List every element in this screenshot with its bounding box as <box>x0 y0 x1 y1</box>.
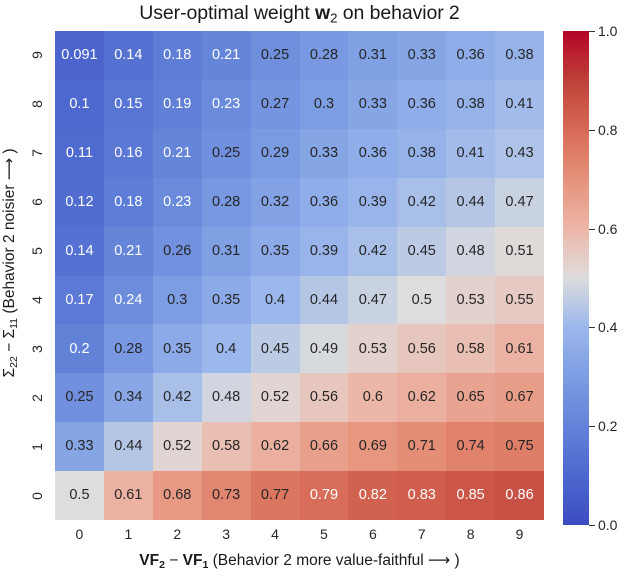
y-tick-label: 9 <box>26 31 48 80</box>
y-tick-text: 1 <box>29 443 45 451</box>
heatmap-cell: 0.31 <box>202 227 251 276</box>
heatmap-cell: 0.1 <box>55 80 104 129</box>
x-tick-label: 7 <box>397 524 446 544</box>
heatmap-cell: 0.61 <box>495 324 544 373</box>
x-tick-label: 6 <box>348 524 397 544</box>
heatmap-cell-value: 0.36 <box>408 97 436 112</box>
heatmap-cell-value: 0.36 <box>310 195 338 210</box>
y-tick-label: 5 <box>26 227 48 276</box>
x-axis-label: VF2 − VF1 (Behavior 2 more value-faithfu… <box>55 551 544 571</box>
heatmap-cell: 0.11 <box>55 129 104 178</box>
heatmap-cell: 0.4 <box>251 276 300 325</box>
x-tick-label: 4 <box>251 524 300 544</box>
heatmap-cell: 0.53 <box>446 276 495 325</box>
heatmap-cell: 0.18 <box>104 178 153 227</box>
heatmap-cell: 0.48 <box>202 373 251 422</box>
heatmap-cell-value: 0.28 <box>212 195 240 210</box>
heatmap-cell: 0.33 <box>55 422 104 471</box>
heatmap-cell-value: 0.21 <box>114 244 142 259</box>
heatmap-cell: 0.49 <box>300 324 349 373</box>
heatmap-cell-value: 0.14 <box>114 48 142 63</box>
heatmap-cell-value: 0.58 <box>212 439 240 454</box>
colorbar-tick-label: 1.0 <box>598 23 617 39</box>
heatmap-cell-value: 0.5 <box>412 293 432 308</box>
heatmap-cell: 0.58 <box>202 422 251 471</box>
heatmap-cell-value: 0.25 <box>65 390 93 405</box>
heatmap-cell-value: 0.19 <box>163 97 191 112</box>
heatmap-cell-value: 0.18 <box>163 48 191 63</box>
heatmap-cell-value: 0.36 <box>457 48 485 63</box>
heatmap-cell: 0.28 <box>202 178 251 227</box>
title-lead: User-optimal weight <box>139 2 315 24</box>
heatmap-cell: 0.45 <box>397 227 446 276</box>
colorbar-tick-mark <box>589 525 595 526</box>
heatmap-cell-value: 0.3 <box>314 97 334 112</box>
heatmap-cell: 0.58 <box>446 324 495 373</box>
heatmap-cell-value: 0.38 <box>505 48 533 63</box>
heatmap-cell: 0.52 <box>153 422 202 471</box>
heatmap-cell-value: 0.86 <box>505 488 533 503</box>
heatmap-cell: 0.75 <box>495 422 544 471</box>
heatmap-cell-value: 0.66 <box>310 439 338 454</box>
heatmap-cell-value: 0.85 <box>457 488 485 503</box>
heatmap-cell-value: 0.18 <box>114 195 142 210</box>
heatmap-cell-value: 0.27 <box>261 97 289 112</box>
heatmap-cell-value: 0.35 <box>163 342 191 357</box>
colorbar-tick-label: 0.6 <box>598 221 617 237</box>
y-tick-label: 3 <box>26 324 48 373</box>
heatmap-cell: 0.3 <box>153 276 202 325</box>
heatmap-cell: 0.18 <box>153 31 202 80</box>
heatmap-cell: 0.5 <box>397 276 446 325</box>
heatmap-cell: 0.4 <box>202 324 251 373</box>
colorbar-tick-label: 0.2 <box>598 418 617 434</box>
xlabel-sym2: VF <box>183 552 203 569</box>
x-tick-label: 8 <box>446 524 495 544</box>
heatmap-cell: 0.27 <box>251 80 300 129</box>
heatmap-cell: 0.19 <box>153 80 202 129</box>
heatmap-cell: 0.091 <box>55 31 104 80</box>
heatmap-cell-value: 0.33 <box>408 48 436 63</box>
y-tick-label: 6 <box>26 178 48 227</box>
heatmap-cell-value: 0.73 <box>212 488 240 503</box>
heatmap-cell: 0.23 <box>202 80 251 129</box>
heatmap-cell: 0.32 <box>251 178 300 227</box>
y-tick-text: 8 <box>29 100 45 108</box>
heatmap-cell-value: 0.41 <box>505 97 533 112</box>
y-tick-label: 8 <box>26 80 48 129</box>
heatmap-cell-value: 0.38 <box>408 146 436 161</box>
heatmap-cell: 0.38 <box>397 129 446 178</box>
x-tick-label: 1 <box>104 524 153 544</box>
heatmap-cell: 0.83 <box>397 471 446 520</box>
heatmap-cell: 0.33 <box>300 129 349 178</box>
y-tick-text: 6 <box>29 198 45 206</box>
heatmap-cell: 0.25 <box>202 129 251 178</box>
heatmap-cell: 0.33 <box>348 80 397 129</box>
heatmap-cell-value: 0.53 <box>359 342 387 357</box>
colorbar-tick-mark <box>589 229 595 230</box>
heatmap-cell: 0.38 <box>446 80 495 129</box>
heatmap-cell: 0.25 <box>55 373 104 422</box>
heatmap-cell-value: 0.62 <box>408 390 436 405</box>
heatmap-cell: 0.61 <box>104 471 153 520</box>
x-tick-label: 3 <box>202 524 251 544</box>
heatmap-cell: 0.62 <box>251 422 300 471</box>
heatmap-cell: 0.55 <box>495 276 544 325</box>
heatmap-cell-value: 0.33 <box>65 439 93 454</box>
heatmap-cell: 0.48 <box>446 227 495 276</box>
heatmap-cell-value: 0.34 <box>114 390 142 405</box>
heatmap-cell: 0.47 <box>348 276 397 325</box>
heatmap-cell: 0.36 <box>348 129 397 178</box>
heatmap-cell: 0.69 <box>348 422 397 471</box>
colorbar-tick-label: 0.8 <box>598 122 617 138</box>
heatmap-cell: 0.44 <box>104 422 153 471</box>
heatmap-cell: 0.41 <box>495 80 544 129</box>
heatmap-cell-value: 0.39 <box>310 244 338 259</box>
heatmap-cell-value: 0.3 <box>167 293 187 308</box>
heatmap-cell: 0.14 <box>55 227 104 276</box>
colorbar-tick-label: 0.0 <box>598 517 617 533</box>
heatmap-cell: 0.31 <box>348 31 397 80</box>
heatmap-cell-value: 0.32 <box>261 195 289 210</box>
heatmap-cell-value: 0.31 <box>212 244 240 259</box>
heatmap-cell: 0.68 <box>153 471 202 520</box>
colorbar-tick-mark <box>589 327 595 328</box>
y-tick-label: 0 <box>26 471 48 520</box>
heatmap-cell: 0.33 <box>397 31 446 80</box>
x-tick-label: 0 <box>55 524 104 544</box>
heatmap-cell-value: 0.23 <box>212 97 240 112</box>
heatmap-cell-value: 0.38 <box>457 97 485 112</box>
y-tick-text: 9 <box>29 52 45 60</box>
heatmap-cell: 0.28 <box>300 31 349 80</box>
heatmap-cell-value: 0.28 <box>114 342 142 357</box>
heatmap-figure: User-optimal weight w2 on behavior 2 0.0… <box>0 0 626 582</box>
heatmap-cell-value: 0.23 <box>163 195 191 210</box>
y-tick-text: 3 <box>29 345 45 353</box>
heatmap-cell-value: 0.14 <box>65 244 93 259</box>
heatmap-cell: 0.47 <box>495 178 544 227</box>
y-tick-text: 0 <box>29 492 45 500</box>
heatmap-cell: 0.41 <box>446 129 495 178</box>
heatmap-cell-value: 0.82 <box>359 488 387 503</box>
y-axis-label: Σ22 − Σ11 (Behavior 2 noisier ⟶ ) <box>0 18 20 508</box>
x-tick-label: 5 <box>300 524 349 544</box>
y-tick-label: 4 <box>26 276 48 325</box>
heatmap-cell: 0.28 <box>104 324 153 373</box>
y-tick-label: 7 <box>26 129 48 178</box>
colorbar-tick-label: 0.4 <box>598 319 617 335</box>
heatmap-cell-value: 0.44 <box>114 439 142 454</box>
heatmap-cell: 0.82 <box>348 471 397 520</box>
heatmap-cell: 0.62 <box>397 373 446 422</box>
page-title: User-optimal weight w2 on behavior 2 <box>55 2 544 26</box>
heatmap-cell-value: 0.29 <box>261 146 289 161</box>
heatmap-cell-value: 0.67 <box>505 390 533 405</box>
heatmap-cell: 0.42 <box>153 373 202 422</box>
heatmap-cell-value: 0.25 <box>212 146 240 161</box>
heatmap-cell: 0.29 <box>251 129 300 178</box>
heatmap-cell-value: 0.42 <box>163 390 191 405</box>
heatmap-cell-value: 0.33 <box>310 146 338 161</box>
heatmap-cell: 0.36 <box>397 80 446 129</box>
title-symbol: w <box>315 2 330 24</box>
heatmap-cell-value: 0.48 <box>457 244 485 259</box>
heatmap-cell-value: 0.21 <box>163 146 191 161</box>
heatmap-cell-value: 0.2 <box>69 342 89 357</box>
y-tick-text: 2 <box>29 394 45 402</box>
colorbar-gradient <box>563 31 589 525</box>
y-tick-text: 5 <box>29 247 45 255</box>
heatmap-cell: 0.35 <box>202 276 251 325</box>
heatmap-cell: 0.74 <box>446 422 495 471</box>
heatmap-cell-value: 0.51 <box>505 244 533 259</box>
heatmap-cell: 0.35 <box>153 324 202 373</box>
heatmap-cell-value: 0.71 <box>408 439 436 454</box>
heatmap-cell-value: 0.61 <box>505 342 533 357</box>
heatmap-cell-value: 0.53 <box>457 293 485 308</box>
heatmap-cell-value: 0.49 <box>310 342 338 357</box>
heatmap-cell-value: 0.47 <box>505 195 533 210</box>
heatmap-cell: 0.79 <box>300 471 349 520</box>
heatmap-cell: 0.23 <box>153 178 202 227</box>
heatmap-cell: 0.35 <box>251 227 300 276</box>
heatmap-cell-value: 0.52 <box>163 439 191 454</box>
heatmap-cell-value: 0.12 <box>65 195 93 210</box>
colorbar-tick-mark <box>589 31 595 32</box>
heatmap-cell: 0.45 <box>251 324 300 373</box>
heatmap-cell: 0.73 <box>202 471 251 520</box>
colorbar-tick-mark <box>589 426 595 427</box>
heatmap-cell: 0.52 <box>251 373 300 422</box>
heatmap-cell-value: 0.42 <box>408 195 436 210</box>
heatmap-cell: 0.36 <box>300 178 349 227</box>
heatmap-cell-value: 0.55 <box>505 293 533 308</box>
heatmap-cell: 0.44 <box>300 276 349 325</box>
heatmap-cell-value: 0.45 <box>261 342 289 357</box>
y-tick-label: 2 <box>26 373 48 422</box>
heatmap-cell-value: 0.58 <box>457 342 485 357</box>
y-tick-text: 4 <box>29 296 45 304</box>
heatmap-cell-value: 0.4 <box>216 342 236 357</box>
heatmap-cell: 0.34 <box>104 373 153 422</box>
heatmap-cell-value: 0.62 <box>261 439 289 454</box>
ylabel-sym2: Σ <box>1 329 18 339</box>
heatmap-cell: 0.85 <box>446 471 495 520</box>
heatmap-cell-value: 0.65 <box>457 390 485 405</box>
xlabel-op: − <box>165 552 183 569</box>
heatmap-cell: 0.16 <box>104 129 153 178</box>
heatmap-cell: 0.56 <box>397 324 446 373</box>
heatmap-cell-value: 0.42 <box>359 244 387 259</box>
heatmap-cell-value: 0.33 <box>359 97 387 112</box>
ylabel-op: − <box>1 339 18 357</box>
heatmap-cell-value: 0.69 <box>359 439 387 454</box>
ylabel-sym2-subscript: 11 <box>8 318 20 329</box>
heatmap-cell: 0.3 <box>300 80 349 129</box>
heatmap-cell: 0.26 <box>153 227 202 276</box>
heatmap-cell: 0.67 <box>495 373 544 422</box>
heatmap-cell: 0.36 <box>446 31 495 80</box>
heatmap-cell: 0.86 <box>495 471 544 520</box>
heatmap-cell: 0.71 <box>397 422 446 471</box>
heatmap-grid: 0.0910.140.180.210.250.280.310.330.360.3… <box>55 31 544 520</box>
heatmap-cell: 0.21 <box>104 227 153 276</box>
heatmap-cell-value: 0.56 <box>310 390 338 405</box>
heatmap-cell: 0.56 <box>300 373 349 422</box>
heatmap-cell-value: 0.44 <box>310 293 338 308</box>
heatmap-cell: 0.39 <box>300 227 349 276</box>
heatmap-cell-value: 0.39 <box>359 195 387 210</box>
heatmap-cell-value: 0.1 <box>69 97 89 112</box>
title-trail: on behavior 2 <box>337 2 459 24</box>
heatmap-cell-value: 0.48 <box>212 390 240 405</box>
heatmap-cell-value: 0.31 <box>359 48 387 63</box>
heatmap-cell-value: 0.28 <box>310 48 338 63</box>
heatmap-cell-value: 0.11 <box>66 146 93 161</box>
heatmap-cell-value: 0.4 <box>265 293 285 308</box>
heatmap-cell: 0.6 <box>348 373 397 422</box>
heatmap-cell: 0.2 <box>55 324 104 373</box>
heatmap-cell-value: 0.41 <box>457 146 485 161</box>
heatmap-cell: 0.43 <box>495 129 544 178</box>
heatmap-cell: 0.38 <box>495 31 544 80</box>
heatmap-cell-value: 0.16 <box>114 146 142 161</box>
heatmap-cell-value: 0.47 <box>359 293 387 308</box>
heatmap-cell: 0.24 <box>104 276 153 325</box>
xlabel-sym1: VF <box>139 552 159 569</box>
heatmap-cell-value: 0.5 <box>69 488 89 503</box>
heatmap-cell-value: 0.24 <box>114 293 142 308</box>
heatmap-cell-value: 0.56 <box>408 342 436 357</box>
heatmap-cell: 0.44 <box>446 178 495 227</box>
heatmap-cell-value: 0.68 <box>163 488 191 503</box>
heatmap-cell-value: 0.79 <box>310 488 338 503</box>
ylabel-sym1: Σ <box>1 368 18 378</box>
y-tick-text: 7 <box>29 149 45 157</box>
heatmap-cell-value: 0.43 <box>505 146 533 161</box>
heatmap-cell-value: 0.17 <box>65 293 93 308</box>
heatmap-cell-value: 0.35 <box>212 293 240 308</box>
y-tick-label: 1 <box>26 422 48 471</box>
heatmap-cell: 0.53 <box>348 324 397 373</box>
ylabel-sym1-subscript: 22 <box>8 356 20 368</box>
heatmap-cell: 0.15 <box>104 80 153 129</box>
heatmap-cell: 0.77 <box>251 471 300 520</box>
heatmap-cell-value: 0.15 <box>114 97 142 112</box>
heatmap-cell-value: 0.36 <box>359 146 387 161</box>
heatmap-cell-value: 0.61 <box>114 488 142 503</box>
heatmap-cell-value: 0.25 <box>261 48 289 63</box>
ylabel-trail: (Behavior 2 noisier ⟶ ) <box>1 148 18 318</box>
heatmap-cell-value: 0.6 <box>363 390 383 405</box>
heatmap-cell-value: 0.21 <box>212 48 240 63</box>
heatmap-cell: 0.42 <box>397 178 446 227</box>
heatmap-cell: 0.25 <box>251 31 300 80</box>
heatmap-cell: 0.14 <box>104 31 153 80</box>
heatmap-cell-value: 0.35 <box>261 244 289 259</box>
heatmap-cell: 0.42 <box>348 227 397 276</box>
xlabel-trail: (Behavior 2 more value-faithful ⟶ ) <box>208 552 459 569</box>
colorbar-tick-mark <box>589 130 595 131</box>
heatmap-cell-value: 0.83 <box>408 488 436 503</box>
heatmap-cell: 0.12 <box>55 178 104 227</box>
heatmap-cell-value: 0.74 <box>457 439 485 454</box>
colorbar <box>563 31 589 525</box>
heatmap-cell: 0.5 <box>55 471 104 520</box>
heatmap-cell: 0.66 <box>300 422 349 471</box>
x-tick-label: 2 <box>153 524 202 544</box>
heatmap-cell-value: 0.45 <box>408 244 436 259</box>
heatmap-cell-value: 0.44 <box>457 195 485 210</box>
heatmap-cell: 0.51 <box>495 227 544 276</box>
heatmap-cell-value: 0.75 <box>505 439 533 454</box>
heatmap-cell: 0.21 <box>202 31 251 80</box>
heatmap-cell-value: 0.77 <box>261 488 289 503</box>
heatmap-cell-value: 0.52 <box>261 390 289 405</box>
heatmap-cell: 0.21 <box>153 129 202 178</box>
x-tick-label: 9 <box>495 524 544 544</box>
heatmap-cell: 0.17 <box>55 276 104 325</box>
heatmap-cell-value: 0.091 <box>61 48 97 63</box>
heatmap-cell: 0.65 <box>446 373 495 422</box>
heatmap-cell: 0.39 <box>348 178 397 227</box>
heatmap-cell-value: 0.26 <box>163 244 191 259</box>
